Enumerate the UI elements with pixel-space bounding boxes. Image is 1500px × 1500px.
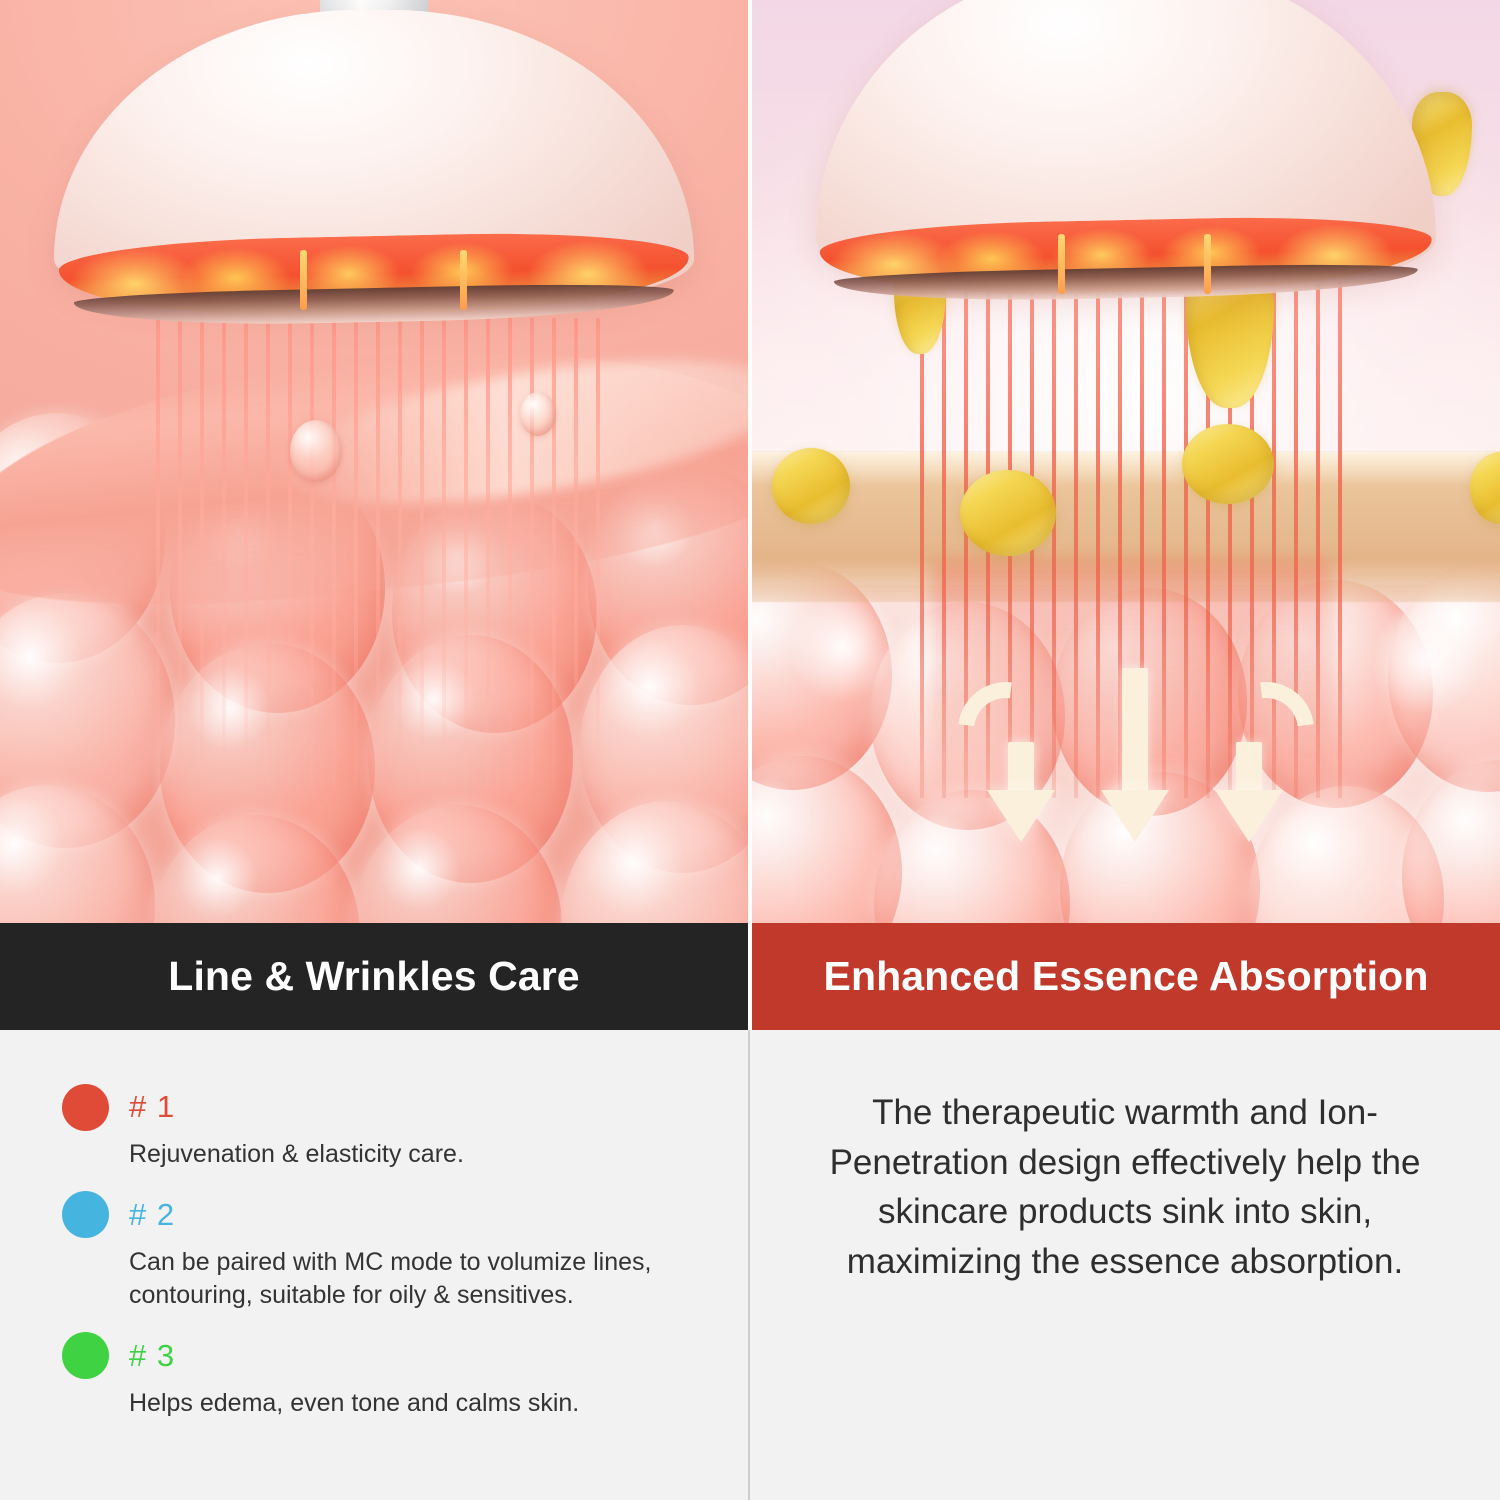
led-notch — [300, 250, 307, 310]
oil-bead — [772, 448, 850, 524]
sparkle-glow — [788, 592, 898, 702]
hero-image-row — [0, 0, 1500, 923]
feature-3-text: Helps edema, even tone and calms skin. — [129, 1387, 704, 1421]
left-banner: Line & Wrinkles Care — [0, 923, 748, 1030]
feature-2-header: # 2 — [62, 1190, 704, 1240]
oil-bead — [960, 470, 1056, 556]
bottom-content-row: # 1 Rejuvenation & elasticity care. # 2 … — [0, 1030, 1500, 1500]
water-droplet — [520, 392, 556, 436]
feature-item-2: # 2 Can be paired with MC mode to volumi… — [62, 1190, 704, 1313]
feature-2-number: # 2 — [129, 1197, 175, 1233]
right-description-panel: The therapeutic warmth and Ion-Penetrati… — [750, 1030, 1500, 1500]
feature-1-text: Rejuvenation & elasticity care. — [129, 1138, 704, 1172]
right-hero-image — [752, 0, 1500, 923]
feature-3-number: # 3 — [129, 1338, 175, 1374]
bullet-dot-green-icon — [62, 1332, 109, 1379]
led-notch — [1204, 234, 1211, 294]
red-light-rays — [150, 318, 610, 788]
infographic-page: Line & Wrinkles Care Enhanced Essence Ab… — [0, 0, 1500, 1500]
device-head — [806, 0, 1446, 302]
banner-row: Line & Wrinkles Care Enhanced Essence Ab… — [0, 923, 1500, 1030]
feature-item-1: # 1 Rejuvenation & elasticity care. — [62, 1082, 704, 1172]
feature-1-number: # 1 — [129, 1089, 175, 1125]
led-notch — [460, 250, 467, 310]
water-droplet — [290, 420, 342, 482]
feature-2-text: Can be paired with MC mode to volumize l… — [129, 1246, 704, 1313]
bullet-dot-blue-icon — [62, 1191, 109, 1238]
left-banner-title: Line & Wrinkles Care — [168, 953, 579, 1000]
bullet-dot-red-icon — [62, 1084, 109, 1131]
oil-bead — [1182, 424, 1274, 504]
left-feature-list: # 1 Rejuvenation & elasticity care. # 2 … — [0, 1030, 748, 1500]
led-notch — [1058, 234, 1065, 294]
right-banner: Enhanced Essence Absorption — [752, 923, 1500, 1030]
right-description-text: The therapeutic warmth and Ion-Penetrati… — [805, 1088, 1445, 1287]
right-banner-title: Enhanced Essence Absorption — [824, 953, 1429, 1000]
sparkle-glow — [1372, 604, 1482, 714]
feature-1-header: # 1 — [62, 1082, 704, 1132]
feature-3-header: # 3 — [62, 1331, 704, 1381]
device-head — [54, 0, 694, 348]
left-hero-image — [0, 0, 748, 923]
feature-item-3: # 3 Helps edema, even tone and calms ski… — [62, 1331, 704, 1421]
